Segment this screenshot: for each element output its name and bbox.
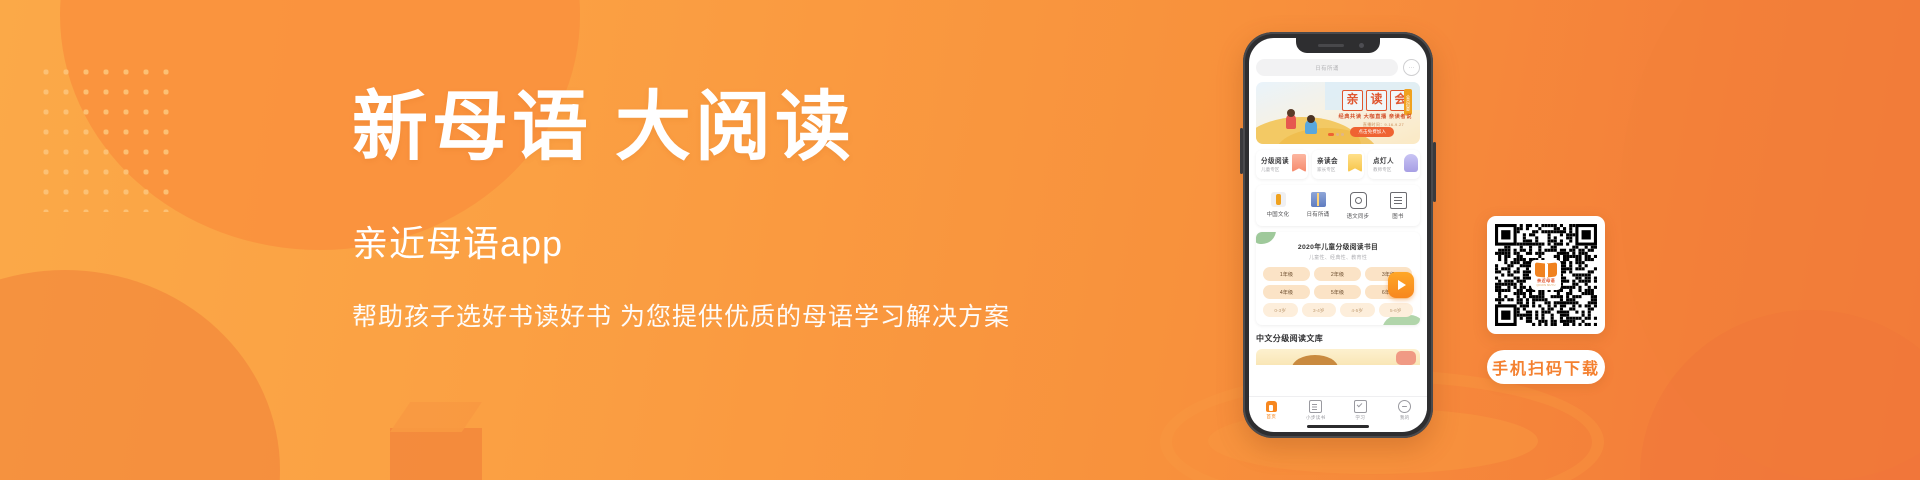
search-input[interactable]: 日有所诵 [1256, 59, 1398, 76]
decor-blob-left-bottom [0, 270, 280, 480]
decor-cube [390, 428, 482, 480]
tab-label: 首页 [1249, 414, 1294, 420]
zone-row: 分级阅读 儿童专区 亲读会 家长专区 点灯人 教师专区 [1256, 150, 1420, 179]
promo-ribbon: 会员招募 [1404, 89, 1412, 115]
tab-home[interactable]: 首页 [1249, 401, 1294, 420]
qr-logo-pinyin: QINJIN MUYU [1536, 284, 1555, 287]
decor-dot-grid [36, 62, 176, 212]
search-placeholder: 日有所诵 [1315, 64, 1339, 72]
app-tabbar: 首页 小步读书 学习 我的 [1249, 396, 1427, 423]
document-icon [1309, 400, 1322, 413]
qr-code: 亲近母语 QINJIN MUYU [1487, 216, 1605, 334]
zone-card-graded-reading[interactable]: 分级阅读 儿童专区 [1256, 150, 1308, 179]
quick-icon-book[interactable]: 图书 [1378, 192, 1418, 220]
grade-chip[interactable]: 4年级 [1263, 285, 1310, 299]
grade-chip[interactable]: 1年级 [1263, 267, 1310, 281]
tab-reading[interactable]: 小步读书 [1294, 400, 1339, 421]
quick-icon-label: 日有所诵 [1298, 210, 1338, 218]
qr-download-block: 亲近母语 QINJIN MUYU 手机扫码下载 [1487, 216, 1605, 384]
decor-blob-right-bottom [1640, 310, 1920, 480]
quick-icon-label: 图书 [1378, 212, 1418, 220]
app-searchbar: 日有所诵 ··· [1256, 59, 1420, 76]
promo-subtitle: 经典共读 大咖直播 亲读者说 [1338, 113, 1412, 120]
tab-label: 小步读书 [1294, 415, 1339, 421]
promo-child-2 [1305, 120, 1317, 134]
promo-banner: 新母语 大阅读 亲近母语app 帮助孩子选好书读好书 为您提供优质的母语学习解决… [0, 0, 1920, 480]
qr-center-logo: 亲近母语 QINJIN MUYU [1531, 260, 1561, 290]
tab-label: 我的 [1383, 415, 1428, 421]
promo-title: 亲 读 会 [1342, 90, 1411, 111]
tab-study[interactable]: 学习 [1338, 400, 1383, 421]
quick-icon-row: 中国文化 日有所诵 语文同步 图书 [1256, 185, 1420, 226]
zone-card-teacher[interactable]: 点灯人 教师专区 [1368, 150, 1420, 179]
tagline: 帮助孩子选好书读好书 为您提供优质的母语学习解决方案 [352, 297, 1052, 333]
profile-icon [1398, 400, 1411, 413]
checklist-icon [1354, 400, 1367, 413]
quick-icon-label: 中国文化 [1258, 210, 1298, 218]
recite-icon [1311, 192, 1326, 207]
book-icon [1390, 192, 1407, 209]
person-icon [1404, 154, 1418, 172]
home-indicator [1307, 425, 1369, 428]
play-button-icon[interactable] [1388, 272, 1414, 298]
qr-canvas-wrap: 亲近母语 QINJIN MUYU [1495, 224, 1597, 326]
age-chip[interactable]: 4-5岁 [1340, 303, 1375, 317]
grade-card-subtitle: 儿童性、经典性、教育性 [1263, 254, 1413, 261]
zone-card-parent[interactable]: 亲读会 家长专区 [1312, 150, 1364, 179]
download-button[interactable]: 手机扫码下载 [1487, 350, 1605, 384]
age-chip[interactable]: 0-3岁 [1263, 303, 1298, 317]
promo-card[interactable]: 亲 读 会 会员招募 经典共读 大咖直播 亲读者说 直播时间：9.16-9.27… [1256, 82, 1420, 144]
promo-title-char-2: 读 [1366, 90, 1387, 111]
banner-copy: 新母语 大阅读 亲近母语app 帮助孩子选好书读好书 为您提供优质的母语学习解决… [352, 86, 1052, 333]
age-chip[interactable]: 3-4岁 [1302, 303, 1337, 317]
decor-blob-right [1620, 0, 1920, 480]
tab-profile[interactable]: 我的 [1383, 400, 1428, 421]
quick-icon-sync[interactable]: 语文同步 [1338, 192, 1378, 220]
quick-icon-culture[interactable]: 中国文化 [1258, 192, 1298, 220]
promo-title-char-1: 亲 [1342, 90, 1363, 111]
promo-join-button[interactable]: 点击免费加入 [1350, 127, 1394, 137]
app-name: 亲近母语app [352, 215, 1052, 267]
phone-notch [1296, 38, 1380, 53]
page-title: 新母语 大阅读 [352, 86, 1052, 171]
phone-mockup: 日有所诵 ··· 亲 读 会 会员招募 经典共读 大 [1243, 32, 1433, 438]
grade-card-title: 2020年儿童分级阅读书目 [1263, 241, 1413, 251]
phone-screen: 日有所诵 ··· 亲 读 会 会员招募 经典共读 大 [1249, 38, 1427, 432]
grade-card: 2020年儿童分级阅读书目 儿童性、经典性、教育性 1年级 2年级 3年级 4年… [1256, 232, 1420, 325]
chat-icon[interactable]: ··· [1403, 59, 1420, 76]
app-content: 日有所诵 ··· 亲 读 会 会员招募 经典共读 大 [1249, 56, 1427, 432]
quick-icon-recite[interactable]: 日有所诵 [1298, 192, 1338, 220]
promo-child-1 [1286, 114, 1296, 129]
age-chip[interactable]: 5-6岁 [1379, 303, 1414, 317]
culture-icon [1271, 192, 1286, 207]
grade-chip[interactable]: 5年级 [1314, 285, 1361, 299]
grade-chip[interactable]: 2年级 [1314, 267, 1361, 281]
library-title: 中文分级阅读文库 [1256, 333, 1420, 344]
tab-label: 学习 [1338, 415, 1383, 421]
promo-carousel-dots[interactable] [1328, 133, 1344, 136]
quick-icon-label: 语文同步 [1338, 212, 1378, 220]
sync-icon [1350, 192, 1367, 209]
library-banner[interactable] [1256, 349, 1420, 365]
home-icon [1266, 401, 1277, 412]
open-book-icon [1535, 263, 1557, 277]
